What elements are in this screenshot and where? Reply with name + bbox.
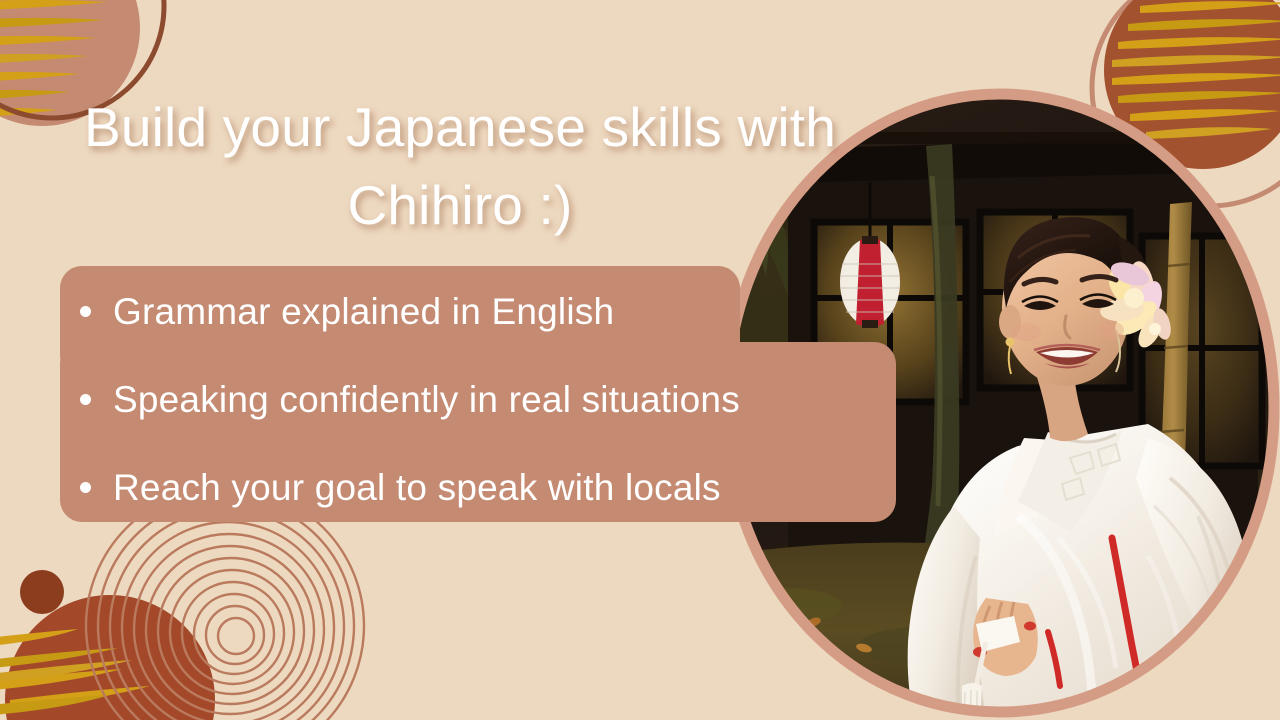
list-item-label: Grammar explained in English (113, 293, 614, 330)
bottom-left-brown-dot (20, 570, 64, 614)
bottom-left-rust-circle (5, 595, 215, 720)
bullet-dot-icon (80, 306, 91, 317)
bullet-dot-icon (80, 394, 91, 405)
bullet-dot-icon (80, 482, 91, 493)
feature-panel: Grammar explained in English Speaking co… (60, 266, 896, 522)
list-item: Grammar explained in English (80, 288, 614, 334)
list-item: Speaking confidently in real situations (80, 376, 740, 422)
slide-canvas: Build your Japanese skills with Chihiro … (0, 0, 1280, 720)
feature-list: Grammar explained in English Speaking co… (60, 266, 896, 522)
list-item-label: Reach your goal to speak with locals (113, 469, 721, 506)
bottom-left-gold-stripes (0, 629, 150, 716)
page-title: Build your Japanese skills with Chihiro … (40, 88, 880, 244)
list-item: Reach your goal to speak with locals (80, 464, 721, 510)
list-item-label: Speaking confidently in real situations (113, 381, 740, 418)
